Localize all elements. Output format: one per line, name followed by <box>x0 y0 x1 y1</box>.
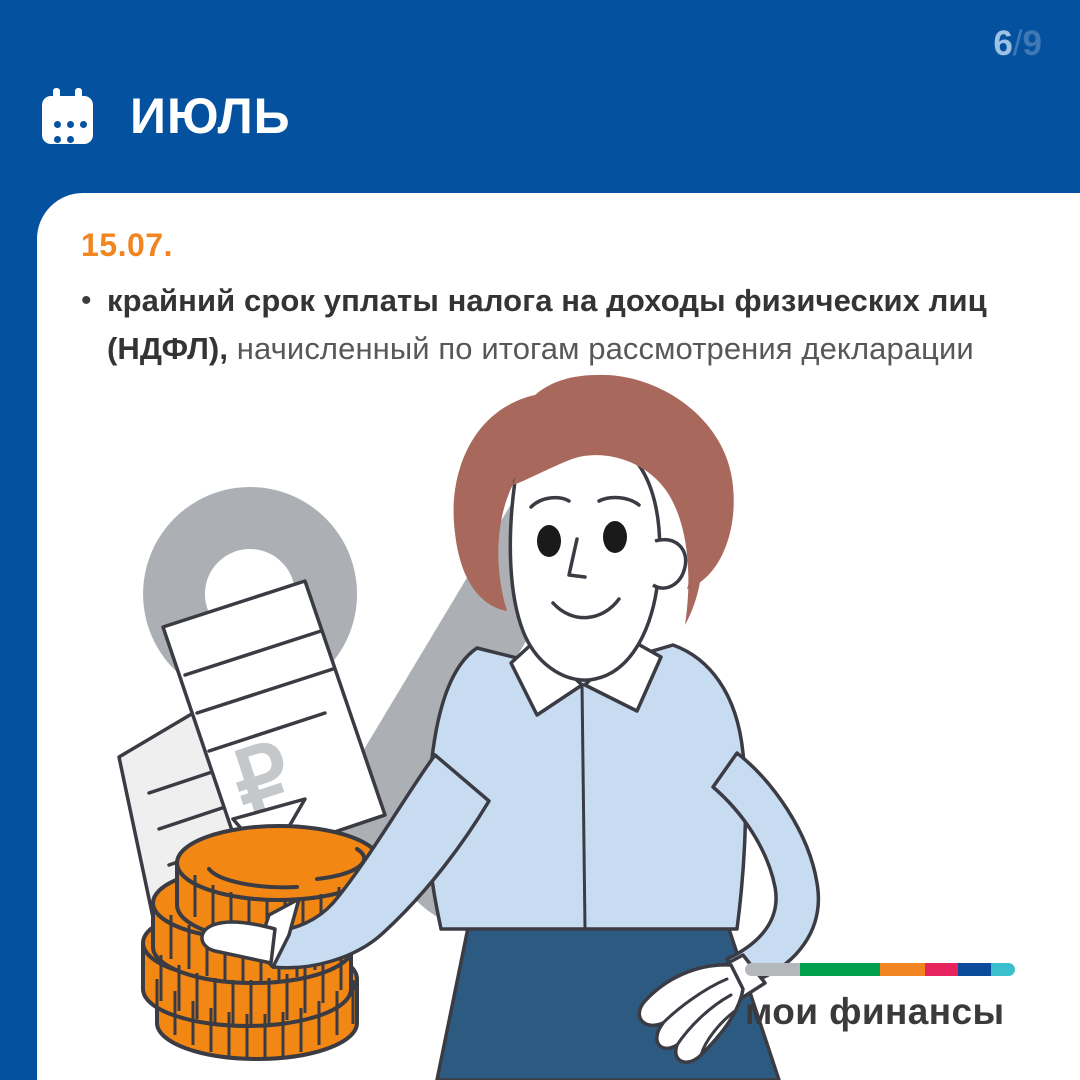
logo-color-bar <box>745 963 1015 976</box>
logo-bar-segment-green <box>800 963 880 976</box>
calendar-icon-body <box>42 96 93 144</box>
logo-bar-segment-teal <box>991 963 1015 976</box>
content-card: 15.07. • крайний срок уплаты налога на д… <box>37 193 1080 1080</box>
eye-right <box>603 521 627 553</box>
brand-logo: мои финансы <box>745 963 1021 1033</box>
page-counter: 6/9 <box>993 26 1042 61</box>
calendar-icon-dot <box>80 121 87 128</box>
logo-bar-segment-orange <box>880 963 925 976</box>
bullet-item: • крайний срок уплаты налога на доходы ф… <box>81 277 1041 373</box>
bullet-text-regular: начисленный по итогам рассмотрения декла… <box>228 331 974 366</box>
bullet-text: крайний срок уплаты налога на доходы физ… <box>107 277 1041 373</box>
month-header: ИЮЛЬ <box>40 88 291 144</box>
calendar-icon <box>40 88 96 144</box>
logo-bar-segment-grey <box>745 963 800 976</box>
calendar-icon-dot <box>67 136 74 143</box>
page-counter-current: 6 <box>993 24 1012 63</box>
date-label: 15.07. <box>81 227 173 264</box>
calendar-icon-dot <box>67 121 74 128</box>
month-title: ИЮЛЬ <box>130 91 291 141</box>
bullet-marker: • <box>81 277 107 373</box>
calendar-icon-dot <box>54 136 61 143</box>
logo-bar-segment-pink <box>925 963 958 976</box>
page-counter-separator: / <box>1013 24 1023 63</box>
eye-left <box>537 525 561 557</box>
header-bar: 6/9 ИЮЛЬ <box>0 0 1080 200</box>
logo-bar-segment-blue <box>958 963 991 976</box>
calendar-icon-dot <box>54 121 61 128</box>
page-counter-total: 9 <box>1023 24 1042 63</box>
logo-text: мои финансы <box>745 992 1021 1033</box>
